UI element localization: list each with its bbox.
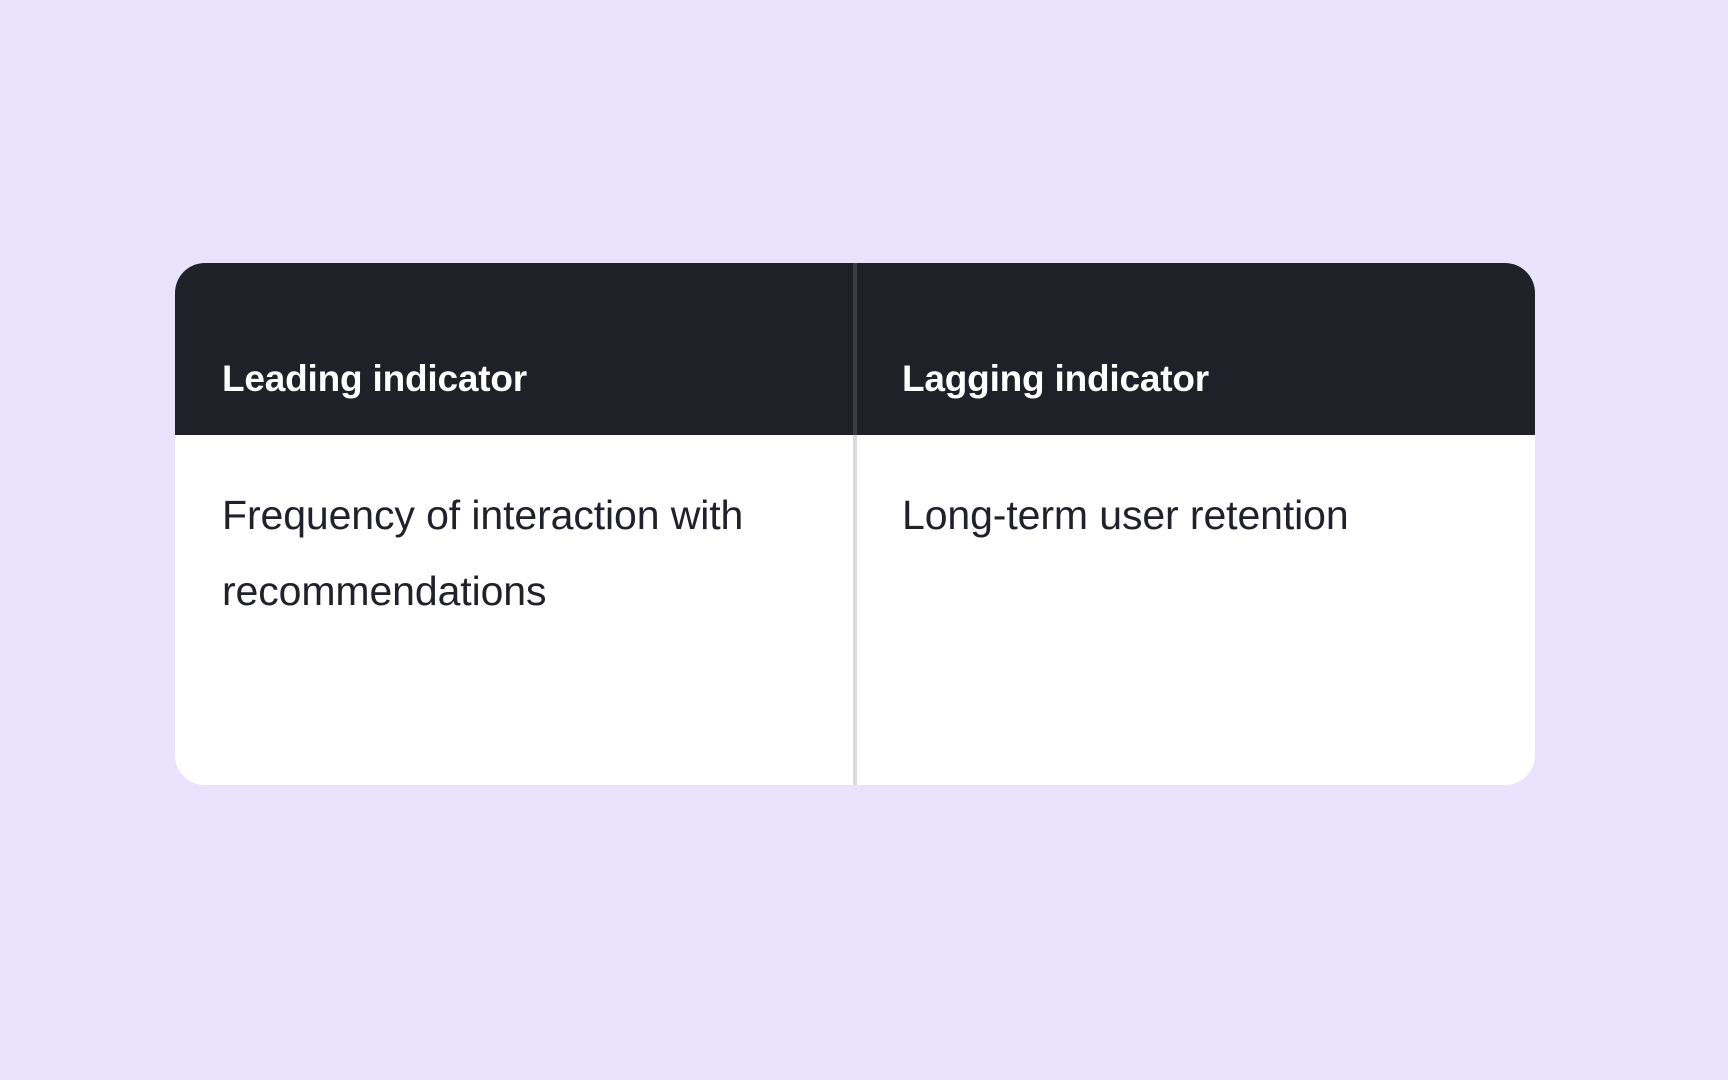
page-canvas: Leading indicator Lagging indicator Freq… <box>0 0 1728 1080</box>
table-body-text-lagging: Long-term user retention <box>902 477 1475 553</box>
table-header-row: Leading indicator Lagging indicator <box>175 263 1535 435</box>
header-column-divider <box>853 263 857 435</box>
table-header-cell-lagging: Lagging indicator <box>855 263 1535 435</box>
comparison-table-card: Leading indicator Lagging indicator Freq… <box>175 263 1535 785</box>
table-body-row: Frequency of interaction with recommenda… <box>175 435 1535 785</box>
table-body-cell-lagging: Long-term user retention <box>855 435 1535 785</box>
table-header-cell-leading: Leading indicator <box>175 263 855 435</box>
table-header-label-leading: Leading indicator <box>222 358 527 401</box>
table-body-cell-leading: Frequency of interaction with recommenda… <box>175 435 855 785</box>
table-body-text-leading: Frequency of interaction with recommenda… <box>222 477 795 629</box>
table-header-label-lagging: Lagging indicator <box>902 358 1209 401</box>
body-column-divider <box>853 435 857 785</box>
